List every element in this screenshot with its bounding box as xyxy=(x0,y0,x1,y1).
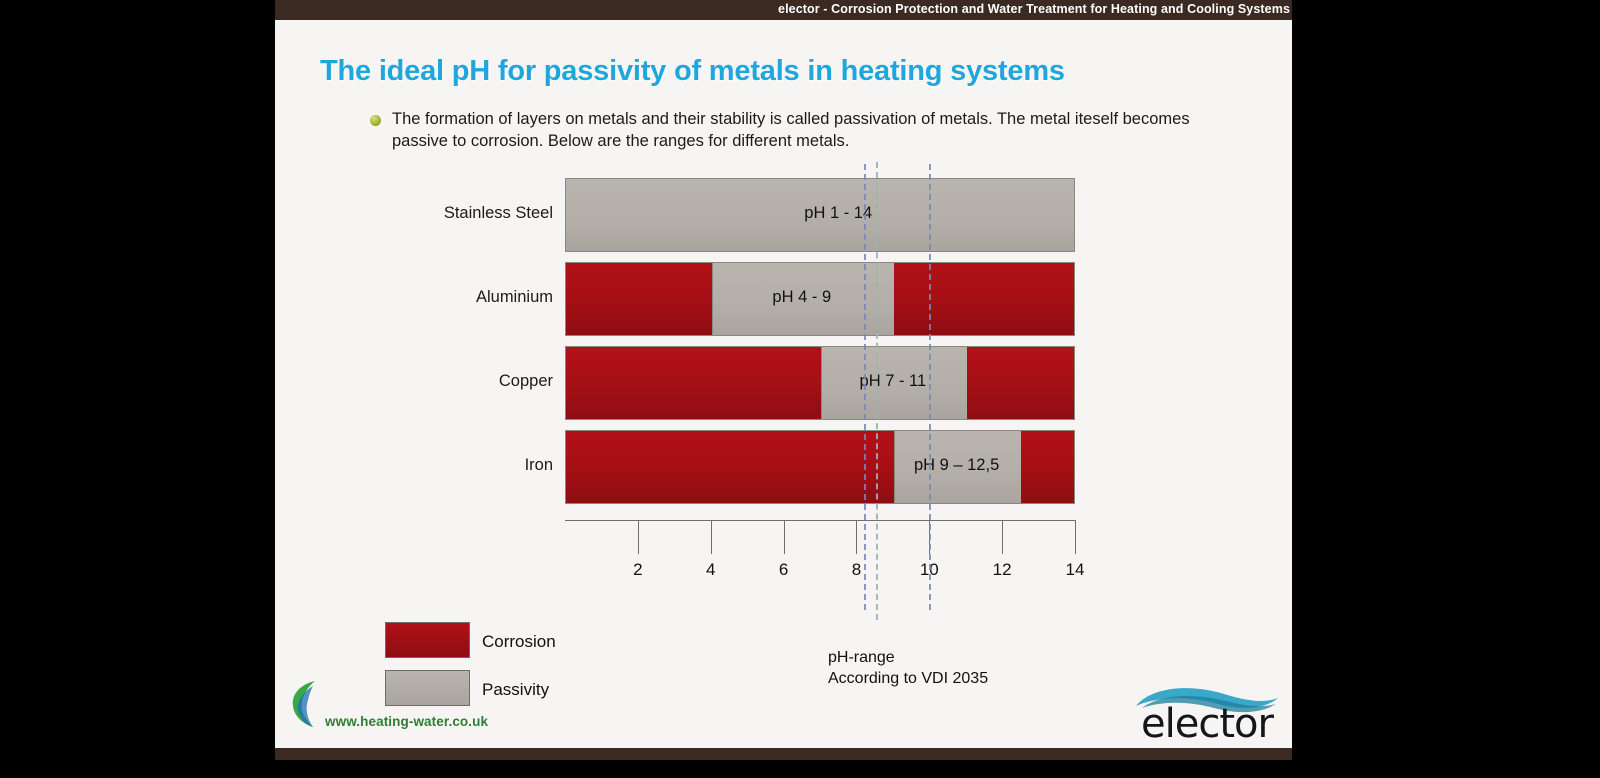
legend-label-corrosion: Corrosion xyxy=(482,632,556,652)
legend-label-passivity: Passivity xyxy=(482,680,549,700)
elector-logo: elector xyxy=(1132,684,1282,742)
x-axis-tick-label-6: 6 xyxy=(764,560,804,580)
x-axis-tick-12 xyxy=(1002,520,1003,554)
bar-value-label: pH 1 - 14 xyxy=(728,204,948,223)
screenshot-stage: elector - Corrosion Protection and Water… xyxy=(0,0,1600,778)
category-label-iron: Iron xyxy=(305,456,553,475)
x-axis-tick-8 xyxy=(856,520,857,554)
vdi-range-line-lower xyxy=(864,164,866,610)
x-axis-tick-2 xyxy=(638,520,639,554)
bar-value-label: pH 4 - 9 xyxy=(692,288,912,307)
bar-segment-corrosion xyxy=(894,263,1075,335)
x-axis-tick-label-12: 12 xyxy=(982,560,1022,580)
x-axis-tick-14 xyxy=(1075,520,1076,554)
website-url[interactable]: www.heating-water.co.uk xyxy=(325,714,488,729)
slide-canvas: elector - Corrosion Protection and Water… xyxy=(275,0,1292,760)
bar-segment-corrosion xyxy=(566,263,712,335)
ph-range-annotation-line1: pH-range xyxy=(828,648,988,669)
bar-segment-corrosion xyxy=(566,431,894,503)
x-axis-tick-label-4: 4 xyxy=(691,560,731,580)
elector-wordmark: elector xyxy=(1132,704,1282,744)
x-axis-tick-label-2: 2 xyxy=(618,560,658,580)
x-axis-line xyxy=(565,520,1075,521)
x-axis-tick-label-8: 8 xyxy=(836,560,876,580)
bar-value-label: pH 9 – 12,5 xyxy=(847,456,1067,475)
legend-swatch-corrosion xyxy=(385,622,470,658)
category-label-aluminium: Aluminium xyxy=(305,288,553,307)
x-axis-tick-4 xyxy=(711,520,712,554)
website-footer[interactable]: www.heating-water.co.uk xyxy=(289,678,488,730)
vdi-range-line-upper xyxy=(929,164,931,610)
category-label-stainless-steel: Stainless Steel xyxy=(305,204,553,223)
vdi-range-center-line xyxy=(876,162,878,620)
ph-range-annotation: pH-range According to VDI 2035 xyxy=(828,648,988,690)
ph-range-annotation-line2: According to VDI 2035 xyxy=(828,669,988,690)
window-bottom-bar xyxy=(275,748,1292,760)
category-label-copper: Copper xyxy=(305,372,553,391)
bar-value-label: pH 7 - 11 xyxy=(783,372,1003,391)
leaf-logo-icon xyxy=(289,678,323,730)
x-axis-tick-6 xyxy=(784,520,785,554)
x-axis-tick-label-14: 14 xyxy=(1055,560,1095,580)
